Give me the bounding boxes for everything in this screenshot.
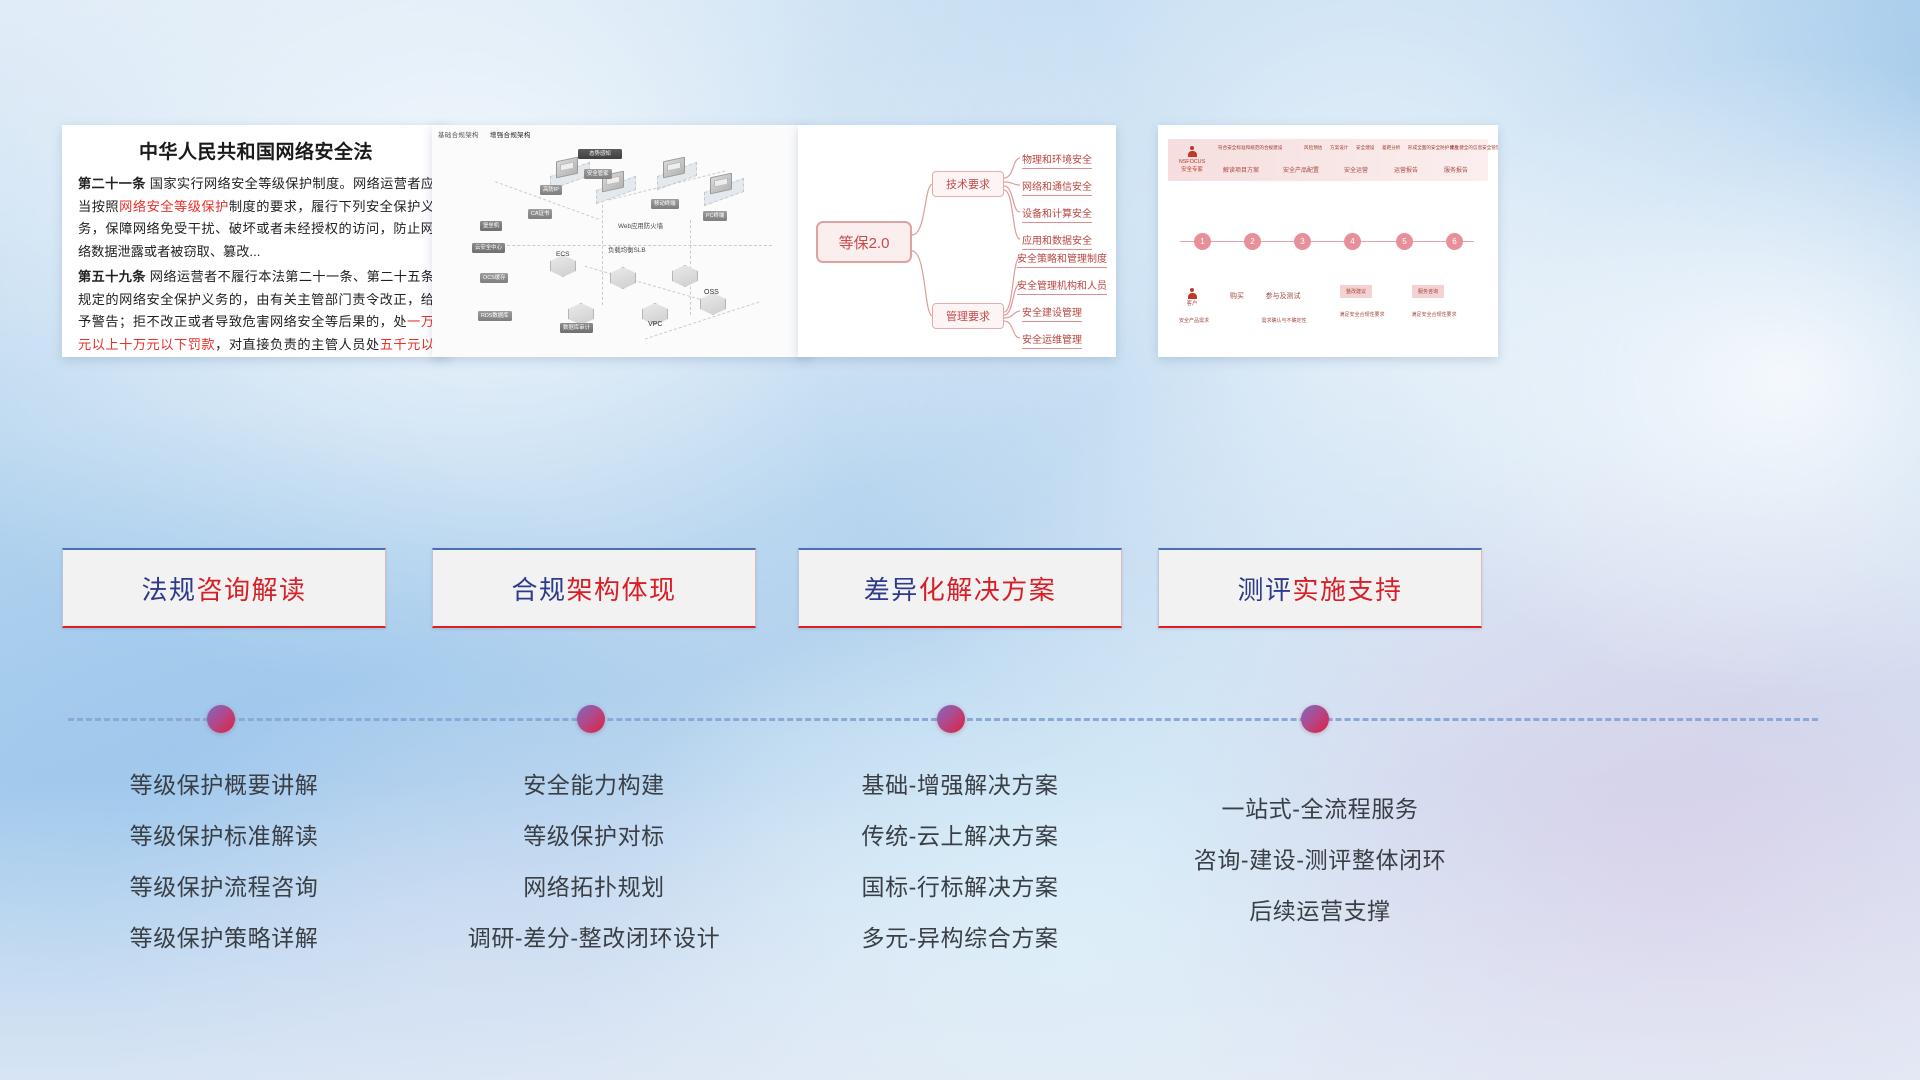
nsfocus-phase: 安全产品配置 — [1276, 165, 1326, 174]
nsfocus-bottom-cap: 参与及测试 — [1258, 291, 1308, 301]
timeline-dot-4[interactable] — [1301, 705, 1329, 733]
card-law-text[interactable]: 中华人民共和国网络安全法 第二十一条 国家实行网络安全等级保护制度。网络运营者应… — [62, 125, 450, 357]
nsfocus-phase: 服务报告 — [1436, 165, 1476, 174]
nsfocus-bottom-tag-note: 满足安全合规性要求 — [1330, 311, 1394, 318]
customer-icon — [1187, 288, 1198, 299]
article-21-highlight: 网络安全等级保护 — [119, 199, 229, 214]
category-button-label-red: 架构体现 — [567, 570, 677, 607]
architecture-node: 态势感知 — [578, 149, 622, 159]
list-item: 咨询-建设-测评整体闭环 — [1158, 835, 1482, 886]
category-button-label-blue: 差异 — [864, 570, 919, 607]
architecture-label: Web应用防火墙 — [618, 221, 663, 230]
mindmap-leaf: 安全建设管理 — [1022, 304, 1082, 322]
nsfocus-bottom-note: 安全产品需求 — [1166, 317, 1222, 324]
law-content: 中华人民共和国网络安全法 第二十一条 国家实行网络安全等级保护制度。网络运营者应… — [62, 125, 450, 357]
nsfocus-header-chip: 建立健全的信息安全管理制度 — [1450, 145, 1498, 152]
list-item: 等级保护对标 — [432, 811, 756, 862]
nsfocus-axis-line — [1180, 241, 1474, 242]
category-button-label-red: 实施支持 — [1293, 570, 1403, 607]
list-item: 多元-异构综合方案 — [798, 913, 1122, 964]
architecture-connector — [585, 266, 720, 306]
thumbnail-card-row: 中华人民共和国网络安全法 第二十一条 国家实行网络安全等级保护制度。网络运营者应… — [0, 125, 1920, 360]
category-button-label-blue: 合规 — [511, 570, 566, 607]
mindmap-root-node: 等保2.0 — [816, 221, 912, 263]
mindmap-leaf: 物理和环境安全 — [1022, 151, 1092, 169]
timeline-dot-1[interactable] — [207, 705, 235, 733]
architecture-node: 云安全中心 — [472, 243, 505, 253]
nsfocus-canvas: NSFOCUS 安全专家 符合安全标准和规范的合规建设 风险预估 方案设计 安全… — [1158, 125, 1498, 357]
feature-list-row: 等级保护概要讲解 等级保护标准解读 等级保护流程咨询 等级保护策略详解 安全能力… — [0, 760, 1920, 980]
architecture-hex-node — [610, 267, 636, 289]
architecture-node: 堡垒机 — [480, 221, 502, 231]
list-item: 网络拓扑规划 — [432, 862, 756, 913]
nsfocus-step: 4 — [1344, 233, 1361, 250]
nsfocus-header-chip: 方案设计 — [1330, 145, 1348, 152]
architecture-hex-node — [550, 255, 576, 277]
nsfocus-bottom-note: 需求确认与不确定性 — [1254, 317, 1314, 324]
architecture-node: 数据库审计 — [560, 323, 593, 333]
person-icon — [1187, 146, 1198, 157]
architecture-tab-basic[interactable]: 基础合规架构 — [438, 132, 479, 139]
nsfocus-bottom-tag: 服务咨询 — [1412, 285, 1444, 298]
architecture-node: 移动终端 — [651, 199, 679, 209]
nsfocus-step: 1 — [1194, 233, 1211, 250]
nsfocus-step: 2 — [1244, 233, 1261, 250]
nsfocus-phase: 解读项目方案 — [1216, 165, 1266, 174]
mindmap-leaf: 应用和数据安全 — [1022, 232, 1092, 250]
category-button-label-red: 化解决方案 — [919, 570, 1057, 607]
article-21-label: 第二十一条 — [78, 176, 146, 191]
category-button-evaluation-support[interactable]: 测评实施支持 — [1158, 548, 1482, 628]
mindmap-branch-management: 管理要求 — [932, 303, 1004, 329]
nsfocus-brand-sub: 安全专家 — [1181, 167, 1203, 175]
mindmap-canvas: 等保2.0 技术要求 管理要求 物理和环境安全 网络和通信安全 设备和计算安全 … — [798, 125, 1116, 357]
list-item: 安全能力构建 — [432, 760, 756, 811]
architecture-hex-node — [672, 265, 698, 287]
list-item: 一站式-全流程服务 — [1158, 784, 1482, 835]
feature-column-evaluation: 一站式-全流程服务 咨询-建设-测评整体闭环 后续运营支撑 — [1158, 784, 1482, 937]
nsfocus-bottom-tag-note: 满足安全合规性要求 — [1402, 311, 1466, 318]
architecture-label: OSS — [704, 289, 719, 296]
list-item: 国标-行标解决方案 — [798, 862, 1122, 913]
law-article-59: 第五十九条 网络运营者不履行本法第二十一条、第二十五条规定的网络安全保护义务的，… — [78, 266, 434, 357]
list-item: 等级保护流程咨询 — [62, 862, 386, 913]
list-item: 传统-云上解决方案 — [798, 811, 1122, 862]
architecture-node: PC终端 — [703, 211, 727, 221]
nsfocus-brand: NSFOCUS — [1179, 159, 1205, 167]
law-title: 中华人民共和国网络安全法 — [78, 137, 434, 164]
nsfocus-phase: 安全运营 — [1336, 165, 1376, 174]
architecture-label: 负载均衡SLB — [608, 245, 646, 254]
category-button-label-red: 咨询解读 — [197, 570, 307, 607]
architecture-tab-enhanced[interactable]: 增强合规架构 — [490, 132, 531, 139]
architecture-hex-node — [568, 303, 594, 325]
architecture-node: RDS数据库 — [478, 311, 512, 321]
timeline-dot-2[interactable] — [577, 705, 605, 733]
nsfocus-header-chip: 安全建设 — [1356, 145, 1374, 152]
architecture-label: ECS — [556, 251, 570, 258]
nsfocus-header-chip: 风险预估 — [1304, 145, 1322, 152]
nsfocus-header-chip: 符合安全标准和规范的合规建设 — [1218, 145, 1282, 152]
card-architecture-diagram[interactable]: 基础合规架构 增强合规架构 态势感知 高防IP CA证书 安全 — [432, 125, 810, 357]
architecture-node: 安全管家 — [584, 169, 612, 179]
timeline-connector — [0, 700, 1920, 750]
article-59-text-b: ，对直接负责的主管人员处 — [215, 337, 380, 352]
feature-column-compliance: 安全能力构建 等级保护对标 网络拓扑规划 调研-差分-整改闭环设计 — [432, 760, 756, 964]
category-button-compliance-architecture[interactable]: 合规架构体现 — [432, 548, 756, 628]
architecture-node: 高防IP — [540, 185, 562, 195]
category-button-label-blue: 测评 — [1237, 570, 1292, 607]
architecture-connector — [602, 205, 603, 305]
card-nsfocus-timeline[interactable]: NSFOCUS 安全专家 符合安全标准和规范的合规建设 风险预估 方案设计 安全… — [1158, 125, 1498, 357]
mindmap-leaf: 网络和通信安全 — [1022, 178, 1092, 196]
law-article-21: 第二十一条 国家实行网络安全等级保护制度。网络运营者应当按照网络安全等级保护制度… — [78, 173, 434, 263]
article-59-label: 第五十九条 — [78, 269, 146, 284]
feature-column-solution: 基础-增强解决方案 传统-云上解决方案 国标-行标解决方案 多元-异构综合方案 — [798, 760, 1122, 964]
nsfocus-bottom-cap: 购买 — [1222, 291, 1252, 301]
mindmap-leaf: 安全管理机构和人员 — [1017, 277, 1107, 295]
list-item: 等级保护概要讲解 — [62, 760, 386, 811]
nsfocus-phase: 运营报告 — [1386, 165, 1426, 174]
timeline-dot-3[interactable] — [937, 705, 965, 733]
list-item: 等级保护标准解读 — [62, 811, 386, 862]
mindmap-branch-technical: 技术要求 — [932, 171, 1004, 197]
nsfocus-customer-block: 客户 — [1172, 281, 1212, 315]
nsfocus-step: 5 — [1396, 233, 1413, 250]
list-item: 后续运营支撑 — [1158, 886, 1482, 937]
category-button-label-blue: 法规 — [141, 570, 196, 607]
list-item: 等级保护策略详解 — [62, 913, 386, 964]
nsfocus-logo: NSFOCUS 安全专家 — [1172, 143, 1212, 177]
mindmap-leaf: 安全运维管理 — [1022, 331, 1082, 349]
nsfocus-customer-label: 客户 — [1187, 301, 1198, 309]
nsfocus-step: 3 — [1294, 233, 1311, 250]
list-item: 基础-增强解决方案 — [798, 760, 1122, 811]
list-item: 调研-差分-整改闭环设计 — [432, 913, 756, 964]
mindmap-leaf: 设备和计算安全 — [1022, 205, 1092, 223]
mindmap-leaf: 安全策略和管理制度 — [1017, 250, 1107, 268]
nsfocus-step: 6 — [1446, 233, 1463, 250]
category-button-differentiated-solution[interactable]: 差异化解决方案 — [798, 548, 1122, 628]
architecture-node: OCS缓存 — [480, 273, 508, 283]
architecture-canvas: 基础合规架构 增强合规架构 态势感知 高防IP CA证书 安全 — [432, 125, 810, 357]
card-mindmap[interactable]: 等保2.0 技术要求 管理要求 物理和环境安全 网络和通信安全 设备和计算安全 … — [798, 125, 1116, 357]
architecture-label: VPC — [648, 321, 662, 328]
feature-column-regulation: 等级保护概要讲解 等级保护标准解读 等级保护流程咨询 等级保护策略详解 — [62, 760, 386, 964]
category-button-regulation-consulting[interactable]: 法规咨询解读 — [62, 548, 386, 628]
category-button-row: 法规咨询解读 合规架构体现 差异化解决方案 测评实施支持 — [0, 548, 1920, 628]
nsfocus-bottom-tag: 整改建议 — [1340, 285, 1372, 298]
architecture-hex-node — [700, 293, 726, 315]
architecture-tabs: 基础合规架构 增强合规架构 — [438, 129, 540, 139]
architecture-node: CA证书 — [528, 209, 552, 219]
nsfocus-header-chip: 差距分析 — [1382, 145, 1400, 152]
